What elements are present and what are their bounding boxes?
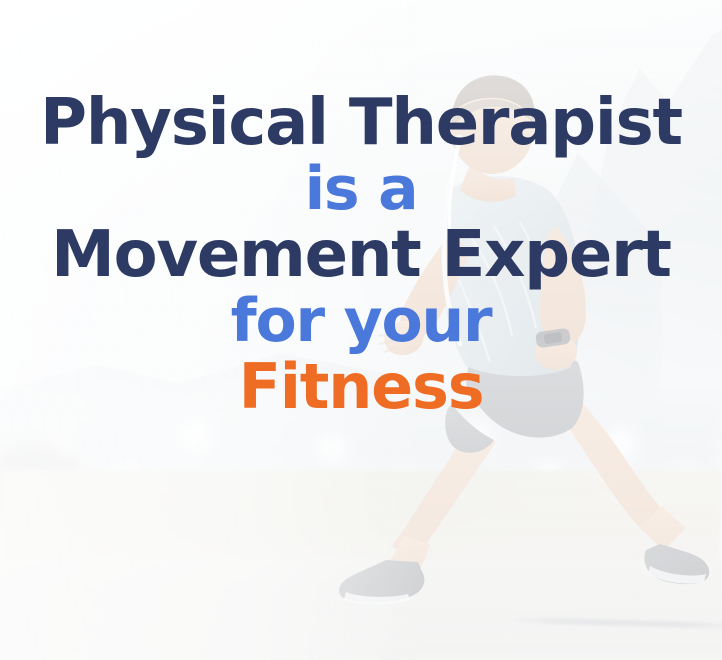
hero-banner: Physical Therapist is a Movement Expert … — [0, 0, 722, 660]
headline-block: Physical Therapist is a Movement Expert … — [0, 0, 722, 660]
headline-line-3: Movement Expert — [51, 224, 671, 286]
headline-line-4: for your — [231, 292, 492, 350]
headline-line-2: is a — [305, 160, 418, 218]
headline-line-5: Fitness — [239, 357, 484, 417]
headline-line-1: Physical Therapist — [40, 92, 682, 154]
